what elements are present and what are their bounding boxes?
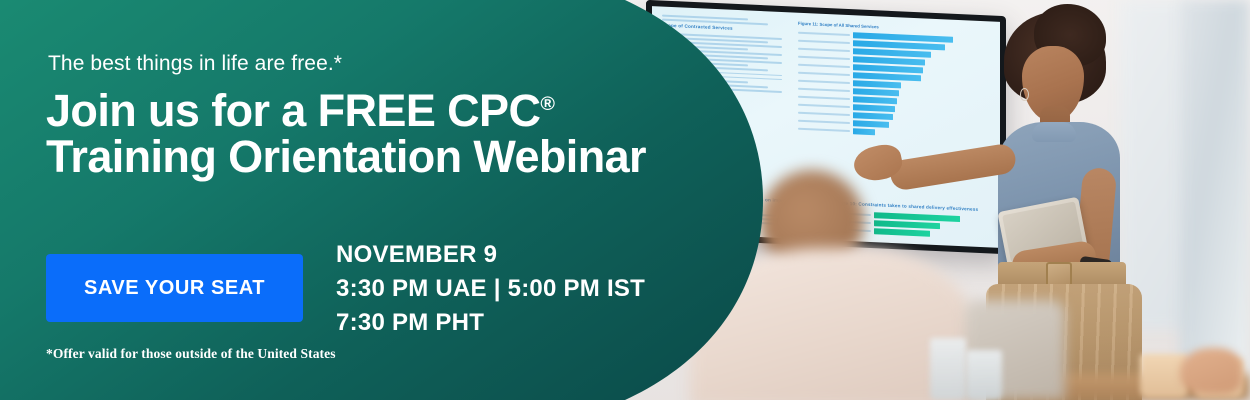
headline-line-1-text: Join us for a FREE CPC	[46, 85, 540, 136]
presenter-earring	[1020, 88, 1029, 101]
save-your-seat-button[interactable]: SAVE YOUR SEAT	[46, 254, 303, 322]
window-wall	[1180, 0, 1250, 400]
event-time-line-1: 3:30 PM UAE | 5:00 PM IST	[336, 272, 645, 306]
water-glass	[930, 338, 966, 400]
headline-line-2: Training Orientation Webinar	[46, 131, 646, 182]
audience-hand	[1180, 348, 1242, 394]
schedule-block: NOVEMBER 9 3:30 PM UAE | 5:00 PM IST 7:3…	[336, 238, 645, 340]
tagline: The best things in life are free.*	[48, 52, 342, 76]
event-date: NOVEMBER 9	[336, 238, 645, 272]
presenter-collar	[1032, 122, 1076, 142]
banner-content: The best things in life are free.* Join …	[0, 0, 765, 400]
headline-line-1: Join us for a FREE CPC®	[46, 85, 555, 136]
event-time-line-2: 7:30 PM PHT	[336, 306, 645, 340]
registered-trademark-icon: ®	[540, 93, 555, 115]
cta-button-label: SAVE YOUR SEAT	[84, 277, 265, 300]
webinar-promo-banner: Scope of Contracted Services Figure 11: …	[0, 0, 1250, 400]
water-glass	[966, 350, 1002, 400]
page-title: Join us for a FREE CPC® Training Orienta…	[46, 88, 646, 180]
offer-disclaimer: *Offer valid for those outside of the Un…	[46, 346, 336, 362]
